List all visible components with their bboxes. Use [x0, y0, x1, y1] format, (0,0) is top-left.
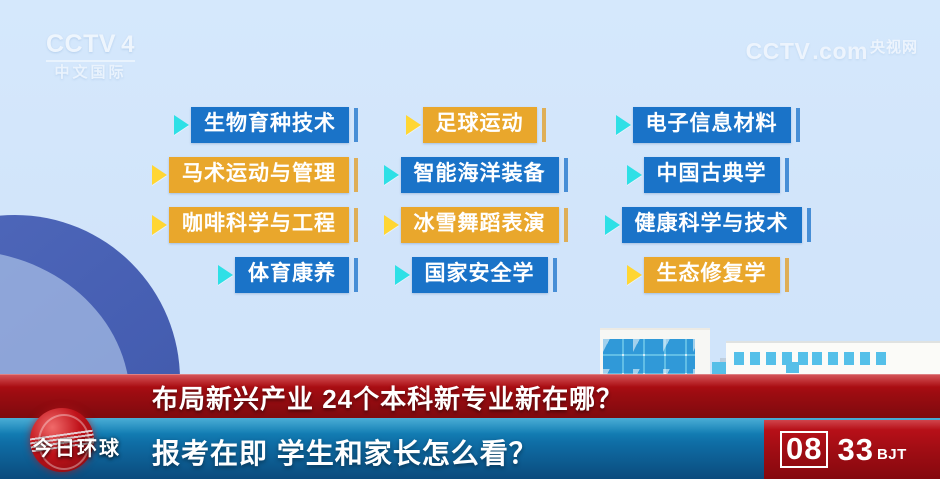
triangle-arrow-icon	[384, 215, 399, 235]
major-tag[interactable]: 电子信息材料	[616, 107, 800, 142]
major-cell: 冰雪舞蹈表演	[358, 200, 593, 250]
watermark-cn-text: 央视网	[870, 36, 918, 57]
major-cell: 健康科学与技术	[593, 200, 822, 250]
major-label: 国家安全学	[412, 257, 548, 292]
major-cell: 电子信息材料	[593, 100, 822, 150]
major-tag[interactable]: 健康科学与技术	[605, 207, 811, 242]
triangle-arrow-icon	[395, 265, 410, 285]
major-cell: 体育康养	[122, 250, 358, 300]
major-tag[interactable]: 足球运动	[406, 107, 546, 142]
tag-accent-bar	[542, 108, 546, 142]
channel-logo-subtitle: 中文国际	[46, 65, 135, 80]
clock-timezone: BJT	[877, 446, 907, 463]
channel-logo-text: CCTV	[46, 30, 116, 58]
cctv-com-watermark: CCTV.com央视网	[746, 38, 918, 65]
major-tag[interactable]: 生态修复学	[627, 257, 789, 292]
major-label: 咖啡科学与工程	[169, 207, 349, 242]
triangle-arrow-icon	[406, 115, 421, 135]
major-label: 足球运动	[423, 107, 537, 142]
triangle-arrow-icon	[605, 215, 620, 235]
major-tag[interactable]: 智能海洋装备	[384, 157, 568, 192]
tag-accent-bar	[354, 158, 358, 192]
major-cell: 生物育种技术	[122, 100, 358, 150]
triangle-arrow-icon	[384, 165, 399, 185]
tag-accent-bar	[564, 158, 568, 192]
triangle-arrow-icon	[627, 265, 642, 285]
new-majors-grid: 生物育种技术足球运动电子信息材料马术运动与管理智能海洋装备中国古典学咖啡科学与工…	[122, 100, 822, 300]
program-name: 今日环球	[18, 432, 136, 461]
major-cell: 中国古典学	[593, 150, 822, 200]
major-cell: 国家安全学	[358, 250, 593, 300]
major-tag[interactable]: 中国古典学	[627, 157, 789, 192]
tag-accent-bar	[564, 208, 568, 242]
major-row: 马术运动与管理智能海洋装备中国古典学	[122, 150, 822, 200]
major-label: 冰雪舞蹈表演	[401, 207, 559, 242]
triangle-arrow-icon	[174, 115, 189, 135]
tag-accent-bar	[354, 258, 358, 292]
major-tag[interactable]: 马术运动与管理	[152, 157, 358, 192]
tag-accent-bar	[807, 208, 811, 242]
triangle-arrow-icon	[152, 215, 167, 235]
tag-accent-bar	[785, 158, 789, 192]
clock-widget: 08 33 BJT	[764, 420, 940, 479]
clock-minutes: 33	[837, 432, 873, 468]
major-cell: 咖啡科学与工程	[122, 200, 358, 250]
triangle-arrow-icon	[627, 165, 642, 185]
major-label: 健康科学与技术	[622, 207, 802, 242]
channel-logo-number: 4	[121, 31, 135, 58]
headline-blue-text: 报考在即 学生和家长怎么看？	[152, 432, 538, 472]
major-row: 生物育种技术足球运动电子信息材料	[122, 100, 822, 150]
major-cell: 马术运动与管理	[122, 150, 358, 200]
major-tag[interactable]: 冰雪舞蹈表演	[384, 207, 568, 242]
tag-accent-bar	[354, 208, 358, 242]
watermark-domain-text: .com	[812, 38, 868, 65]
major-label: 体育康养	[235, 257, 349, 292]
major-tag[interactable]: 体育康养	[218, 257, 358, 292]
tag-accent-bar	[553, 258, 557, 292]
major-label: 智能海洋装备	[401, 157, 559, 192]
watermark-cctv-text: CCTV	[746, 38, 811, 65]
broadcast-screen: CCTV4 中文国际 CCTV.com央视网 生物育种技术足球运动电子信息材料马…	[0, 0, 940, 479]
triangle-arrow-icon	[218, 265, 233, 285]
tag-accent-bar	[796, 108, 800, 142]
major-cell: 智能海洋装备	[358, 150, 593, 200]
major-label: 马术运动与管理	[169, 157, 349, 192]
major-label: 中国古典学	[644, 157, 780, 192]
triangle-arrow-icon	[616, 115, 631, 135]
major-label: 电子信息材料	[633, 107, 791, 142]
major-row: 咖啡科学与工程冰雪舞蹈表演健康科学与技术	[122, 200, 822, 250]
channel-logo-rule	[46, 60, 135, 62]
tag-accent-bar	[785, 258, 789, 292]
major-label: 生态修复学	[644, 257, 780, 292]
channel-logo-cctv4: CCTV4 中文国际	[46, 32, 135, 80]
tag-accent-bar	[354, 108, 358, 142]
headline-red-text: 布局新兴产业 24个本科新专业新在哪？	[152, 379, 623, 416]
major-tag[interactable]: 国家安全学	[395, 257, 557, 292]
major-tag[interactable]: 生物育种技术	[174, 107, 358, 142]
triangle-arrow-icon	[152, 165, 167, 185]
major-label: 生物育种技术	[191, 107, 349, 142]
major-row: 体育康养国家安全学生态修复学	[122, 250, 822, 300]
major-tag[interactable]: 咖啡科学与工程	[152, 207, 358, 242]
program-logo: 今日环球	[8, 404, 140, 476]
clock-hours: 08	[780, 431, 828, 468]
major-cell: 生态修复学	[593, 250, 822, 300]
major-cell: 足球运动	[358, 100, 593, 150]
